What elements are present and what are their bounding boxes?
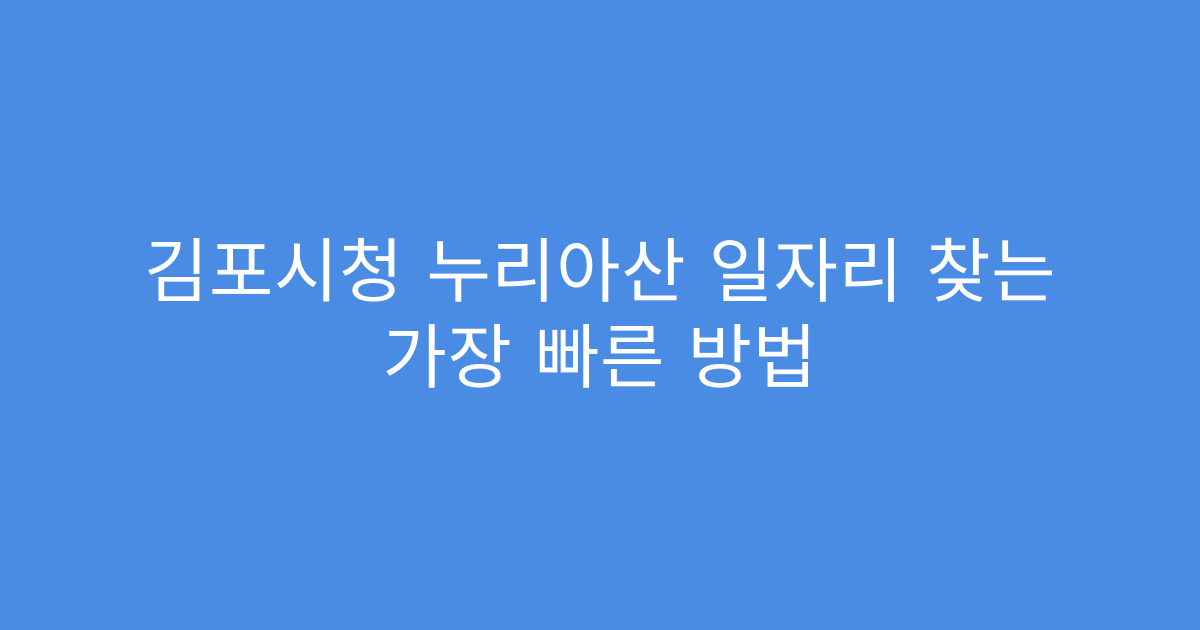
title-block: 김포시청 누리아산 일자리 찾는 가장 빠른 방법	[80, 229, 1120, 401]
og-card: 김포시청 누리아산 일자리 찾는 가장 빠른 방법	[0, 0, 1200, 630]
page-title: 김포시청 누리아산 일자리 찾는 가장 빠른 방법	[144, 229, 1056, 401]
